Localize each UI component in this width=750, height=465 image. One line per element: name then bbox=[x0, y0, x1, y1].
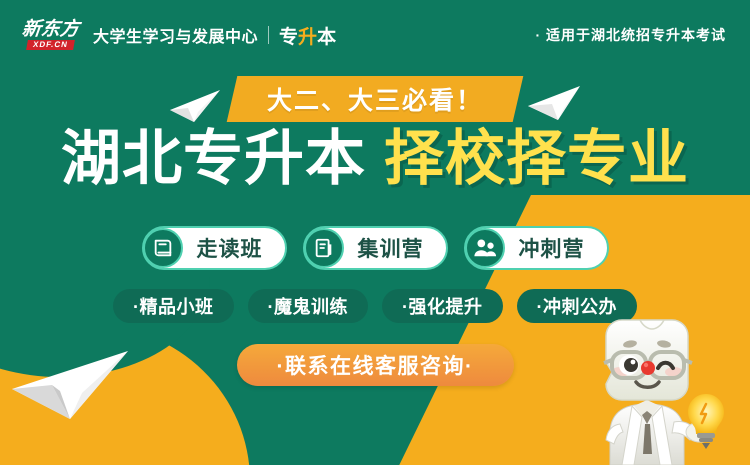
promo-banner: 新东方 XDF.CN 大学生学习与发展中心 专升本 · 适用于湖北统招专升本考试… bbox=[0, 0, 750, 465]
feature-tag[interactable]: ·强化提升 bbox=[382, 289, 503, 323]
mascot-character bbox=[562, 310, 732, 465]
course-pill-label: 走读班 bbox=[197, 233, 263, 263]
document-icon bbox=[304, 228, 344, 268]
paper-plane-icon-top-left bbox=[168, 88, 222, 124]
book-icon bbox=[143, 228, 183, 268]
brand-word-part-2: 本 bbox=[317, 27, 336, 48]
brand-word-accent: 升 bbox=[298, 27, 317, 48]
header-right-note: · 适用于湖北统招专升本考试 bbox=[535, 25, 726, 45]
paper-plane-icon-bottom-left bbox=[8, 345, 134, 423]
xdf-logo: 新东方 XDF.CN bbox=[22, 20, 79, 50]
paper-plane-icon-top-right bbox=[524, 82, 584, 124]
course-pill-chongciying[interactable]: 冲刺营 bbox=[464, 226, 609, 270]
logo-url-text: XDF.CN bbox=[26, 40, 75, 50]
course-pill-zoudu[interactable]: 走读班 bbox=[142, 226, 287, 270]
headline-white-text: 湖北专升本 bbox=[61, 129, 366, 189]
page-title: 湖北专升本 择校择专业 bbox=[0, 129, 750, 189]
feature-tag[interactable]: ·精品小班 bbox=[113, 289, 234, 323]
feature-tag[interactable]: ·魔鬼训练 bbox=[248, 289, 369, 323]
course-pill-label: 冲刺营 bbox=[519, 233, 585, 263]
header-divider bbox=[268, 26, 269, 44]
course-pill-row: 走读班 集训营 冲刺营 bbox=[0, 226, 750, 270]
header-brand-word: 专升本 bbox=[279, 22, 336, 49]
ribbon-text: 大二、大三必看！ bbox=[267, 81, 483, 117]
logo-chinese-text: 新东方 bbox=[21, 20, 80, 39]
course-pill-label: 集训营 bbox=[358, 233, 424, 263]
brand-word-part-1: 专 bbox=[279, 27, 298, 48]
banner-header: 新东方 XDF.CN 大学生学习与发展中心 专升本 · 适用于湖北统招专升本考试 bbox=[0, 18, 750, 52]
headline-yellow-text: 择校择专业 bbox=[384, 129, 689, 189]
course-pill-jixunying[interactable]: 集训营 bbox=[303, 226, 448, 270]
people-icon bbox=[465, 228, 505, 268]
contact-support-button[interactable]: ·联系在线客服咨询· bbox=[237, 344, 514, 386]
header-tagline: 大学生学习与发展中心 bbox=[93, 23, 258, 47]
highlight-ribbon: 大二、大三必看！ bbox=[227, 76, 524, 122]
